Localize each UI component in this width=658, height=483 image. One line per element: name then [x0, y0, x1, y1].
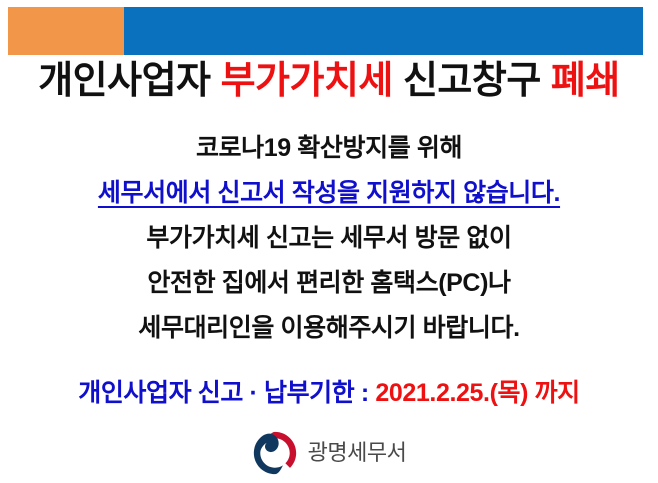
- body-text: 코로나19 확산방지를 위해 세무서에서 신고서 작성을 지원하지 않습니다. …: [0, 126, 658, 351]
- page-title: 개인사업자 부가가치세 신고창구 폐쇄: [0, 58, 658, 104]
- body-line-2-emphasis: 세무서에서 신고서 작성을 지원하지 않습니다.: [0, 171, 658, 216]
- agency-name: 광명세무서: [308, 430, 407, 476]
- banner-blue-block: [124, 7, 643, 55]
- deadline-notice: 개인사업자 신고 · 납부기한 : 2021.2.25.(목) 까지: [0, 376, 658, 410]
- title-segment-vat: 부가가치세: [221, 60, 393, 102]
- deadline-label: 개인사업자 신고 · 납부기한 :: [78, 379, 375, 407]
- deadline-date: 2021.2.25.(목) 까지: [375, 379, 579, 407]
- title-segment-subject: 개인사업자: [38, 60, 220, 102]
- banner-orange-block: [8, 7, 124, 55]
- notice-poster: 개인사업자 부가가치세 신고창구 폐쇄 코로나19 확산방지를 위해 세무서에서…: [0, 0, 658, 483]
- korean-government-taegeuk-emblem-icon: [252, 430, 298, 476]
- title-segment-closed: 폐쇄: [551, 60, 620, 102]
- body-line-3: 부가가치세 신고는 세무서 방문 없이: [0, 216, 658, 261]
- body-line-4: 안전한 집에서 편리한 홈택스(PC)나: [0, 261, 658, 306]
- footer-branding: 광명세무서: [0, 430, 658, 476]
- top-banner: [8, 7, 643, 55]
- body-line-5: 세무대리인을 이용해주시기 바랍니다.: [0, 306, 658, 351]
- body-line-1: 코로나19 확산방지를 위해: [0, 126, 658, 171]
- title-segment-counter: 신고창구: [393, 60, 551, 102]
